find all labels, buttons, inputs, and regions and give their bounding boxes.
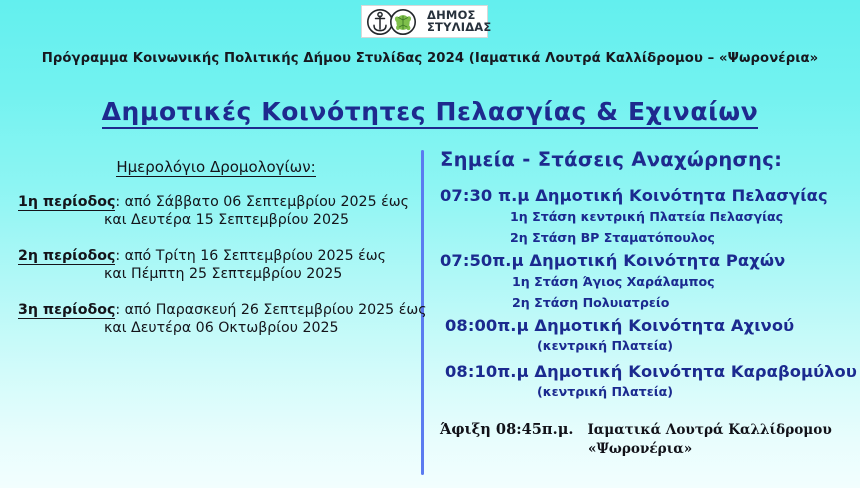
page-title-text: Δημοτικές Κοινότητες Πελασγίας & Εχιναίω…: [102, 97, 759, 129]
municipality-logo: ΔΗΜΟΣ ΣΤΥΛΙΔΑΣ: [361, 5, 488, 38]
stop-main-label: 07:30 π.μ Δημοτική Κοινότητα Πελασγίας: [440, 186, 852, 205]
page-title: Δημοτικές Κοινότητες Πελασγίας & Εχιναίω…: [0, 97, 860, 126]
period-line-2: και Δευτέρα 15 Σεπτεμβρίου 2025: [18, 212, 414, 228]
poster-root: ΔΗΜΟΣ ΣΤΥΛΙΔΑΣ Πρόγραμμα Κοινωνικής Πολι…: [0, 0, 860, 488]
period-range-start: : από Σάββατο 06 Σεπτεμβρίου 2025 έως: [115, 194, 409, 210]
period-range-start: : από Τρίτη 16 Σεπτεμβρίου 2025 έως: [115, 248, 386, 264]
arrival-row: Άφιξη 08:45π.μ.Ιαματικά Λουτρά Καλλίδρομ…: [440, 421, 852, 438]
period-label: 1η περίοδος: [18, 194, 115, 211]
stop-note: (κεντρική Πλατεία): [440, 384, 770, 399]
stop-main-label: 08:00π.μ Δημοτική Κοινότητα Αχινού: [440, 316, 852, 335]
calendar-heading-text: Ημερολόγιο Δρομολογίων:: [116, 158, 315, 177]
stop-item: 07:50π.μ Δημοτική Κοινότητα Ραχών 1η Στά…: [440, 251, 852, 310]
period-line-1: 2η περίοδος: από Τρίτη 16 Σεπτεμβρίου 20…: [18, 248, 414, 264]
program-header: Πρόγραμμα Κοινωνικής Πολιτικής Δήμου Στυ…: [0, 51, 860, 66]
period-range-start: : από Παρασκευή 26 Σεπτεμβρίου 2025 έως: [115, 302, 426, 318]
logo-emblem-icon: [365, 8, 423, 36]
stop-item: 07:30 π.μ Δημοτική Κοινότητα Πελασγίας 1…: [440, 186, 852, 245]
period-item: 3η περίοδος: από Παρασκευή 26 Σεπτεμβρίο…: [18, 302, 414, 336]
period-item: 2η περίοδος: από Τρίτη 16 Σεπτεμβρίου 20…: [18, 248, 414, 282]
arrival-section: Άφιξη 08:45π.μ.Ιαματικά Λουτρά Καλλίδρομ…: [440, 421, 852, 457]
period-line-2: και Πέμπτη 25 Σεπτεμβρίου 2025: [18, 266, 414, 282]
period-line-1: 1η περίοδος: από Σάββατο 06 Σεπτεμβρίου …: [18, 194, 414, 210]
stop-main-label: 08:10π.μ Δημοτική Κοινότητα Καραβομύλου: [440, 362, 852, 381]
period-label: 3η περίοδος: [18, 302, 115, 319]
stops-section: Σημεία - Στάσεις Αναχώρησης: 07:30 π.μ Δ…: [440, 148, 852, 457]
calendar-section: Ημερολόγιο Δρομολογίων: 1η περίοδος: από…: [18, 158, 414, 356]
stop-note: (κεντρική Πλατεία): [440, 338, 770, 353]
substop-label: 2η Στάση BP Σταματόπουλος: [440, 230, 852, 245]
period-line-2: και Δευτέρα 06 Οκτωβρίου 2025: [18, 320, 414, 336]
stop-item: 08:00π.μ Δημοτική Κοινότητα Αχινού (κεντ…: [440, 316, 852, 353]
arrival-place: Ιαματικά Λουτρά Καλλίδρομου: [587, 422, 831, 438]
stop-item: 08:10π.μ Δημοτική Κοινότητα Καραβομύλου …: [440, 362, 852, 399]
substop-label: 1η Στάση κεντρική Πλατεία Πελασγίας: [440, 209, 852, 224]
logo-line-2: ΣΤΥΛΙΔΑΣ: [427, 22, 491, 34]
stops-heading: Σημεία - Στάσεις Αναχώρησης:: [440, 148, 852, 171]
calendar-heading: Ημερολόγιο Δρομολογίων:: [18, 158, 414, 176]
arrival-time: Άφιξη 08:45π.μ.: [440, 421, 573, 438]
arrival-place-sub: «Ψωρονέρια»: [440, 441, 852, 457]
substop-label: 1η Στάση Άγιος Χαράλαμπος: [440, 274, 852, 289]
period-label: 2η περίοδος: [18, 248, 115, 265]
logo-wordmark: ΔΗΜΟΣ ΣΤΥΛΙΔΑΣ: [427, 10, 491, 33]
period-item: 1η περίοδος: από Σάββατο 06 Σεπτεμβρίου …: [18, 194, 414, 228]
period-line-1: 3η περίοδος: από Παρασκευή 26 Σεπτεμβρίο…: [18, 302, 414, 318]
stop-main-label: 07:50π.μ Δημοτική Κοινότητα Ραχών: [440, 251, 852, 270]
substop-label: 2η Στάση Πολυιατρείο: [440, 295, 852, 310]
